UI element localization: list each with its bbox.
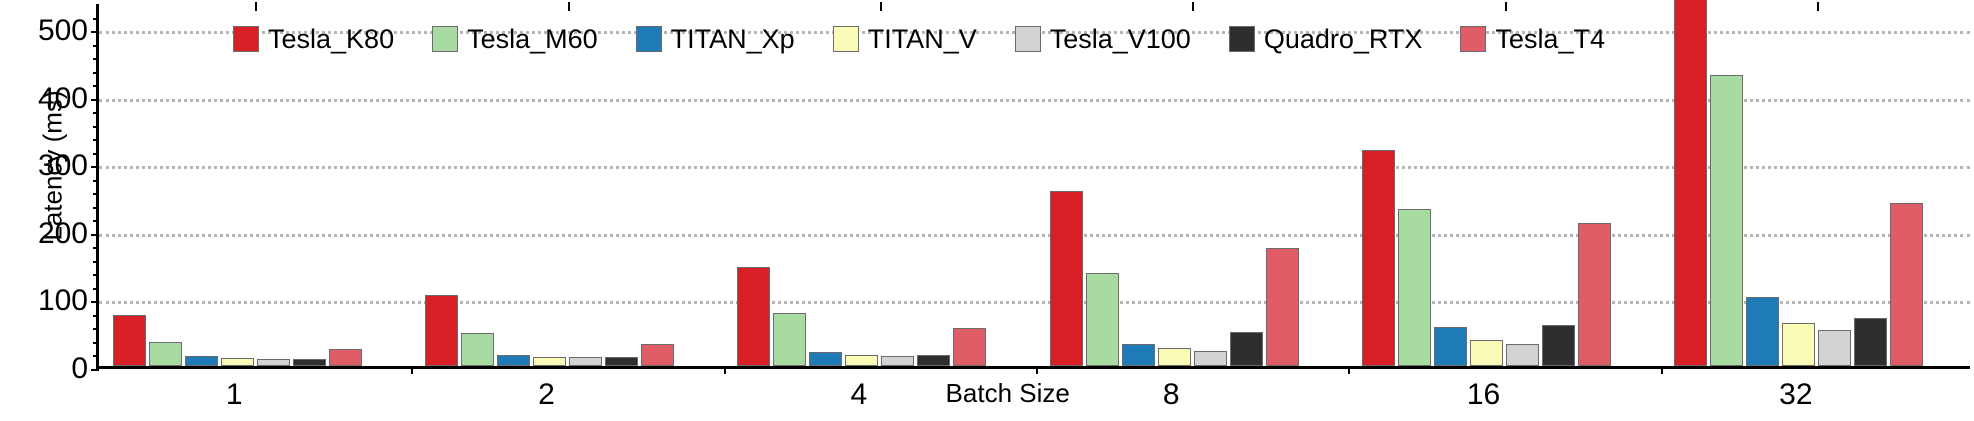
bar[interactable] (149, 342, 182, 366)
x-tick-label: 32 (1779, 378, 1812, 412)
legend-swatch-icon (1015, 26, 1041, 52)
bar[interactable] (329, 349, 362, 366)
chart-root: Latency (ms) 0100200300400500 Tesla_K80T… (0, 0, 1974, 421)
bar[interactable] (1506, 344, 1539, 366)
bar[interactable] (1086, 273, 1119, 366)
bar[interactable] (1158, 348, 1191, 366)
legend-label: Tesla_V100 (1050, 24, 1191, 55)
bar[interactable] (1230, 332, 1263, 366)
bar[interactable] (809, 352, 842, 366)
bar[interactable] (113, 315, 146, 366)
legend-swatch-icon (233, 26, 259, 52)
bar[interactable] (1362, 150, 1395, 366)
legend-item[interactable]: TITAN_V (833, 24, 977, 55)
legend-label: Tesla_M60 (467, 24, 598, 55)
bar[interactable] (641, 344, 674, 366)
x-tick-mark (724, 366, 726, 374)
y-axis-tick-labels: 0100200300400500 (14, 0, 88, 421)
x-tick-mark (1661, 366, 1663, 374)
bar-group (1050, 4, 1299, 366)
y-tick-mark (91, 301, 99, 303)
x-tick-label: 8 (1163, 378, 1180, 412)
bar-group (737, 4, 986, 366)
bar[interactable] (185, 356, 218, 366)
bar[interactable] (569, 357, 602, 366)
bar-group (425, 4, 674, 366)
bar[interactable] (1266, 248, 1299, 366)
x-tick-label: 1 (226, 378, 243, 412)
legend-item[interactable]: Tesla_M60 (432, 24, 598, 55)
bar[interactable] (1578, 223, 1611, 366)
legend-label: TITAN_Xp (671, 24, 795, 55)
bar[interactable] (1194, 351, 1227, 366)
legend-item[interactable]: Tesla_V100 (1015, 24, 1191, 55)
x-tick-mark (411, 366, 413, 374)
legend-swatch-icon (1460, 26, 1486, 52)
y-tick-label: 0 (24, 354, 88, 384)
y-tick-mark (91, 99, 99, 101)
bar[interactable] (1746, 297, 1779, 366)
bar[interactable] (917, 355, 950, 366)
y-tick-label: 100 (24, 286, 88, 316)
legend-item[interactable]: Tesla_K80 (233, 24, 394, 55)
bar[interactable] (1782, 323, 1815, 366)
bar[interactable] (1398, 209, 1431, 366)
legend-label: Tesla_K80 (268, 24, 394, 55)
plot-area: Tesla_K80Tesla_M60TITAN_XpTITAN_VTesla_V… (96, 4, 1970, 369)
y-tick-label: 400 (24, 84, 88, 114)
bar[interactable] (1890, 203, 1923, 366)
bar[interactable] (497, 355, 530, 366)
legend-swatch-icon (432, 26, 458, 52)
bar[interactable] (1122, 344, 1155, 366)
y-tick-mark (91, 369, 99, 371)
y-tick-label: 500 (24, 16, 88, 46)
bar-group (1674, 4, 1923, 366)
bar[interactable] (533, 357, 566, 366)
legend-item[interactable]: Tesla_T4 (1460, 24, 1605, 55)
bar-series-container (99, 4, 1970, 366)
bar[interactable] (1470, 340, 1503, 366)
bar[interactable] (461, 333, 494, 366)
bar[interactable] (845, 355, 878, 366)
y-tick-label: 300 (24, 151, 88, 181)
bar[interactable] (881, 356, 914, 366)
bar[interactable] (953, 328, 986, 366)
bar[interactable] (1818, 330, 1851, 367)
x-tick-label: 2 (538, 378, 555, 412)
bar[interactable] (1854, 318, 1887, 366)
legend: Tesla_K80Tesla_M60TITAN_XpTITAN_VTesla_V… (233, 22, 1643, 56)
bar[interactable] (1050, 191, 1083, 366)
x-tick-label: 16 (1467, 378, 1500, 412)
bar[interactable] (773, 313, 806, 366)
y-tick-mark (91, 234, 99, 236)
y-tick-label: 200 (24, 219, 88, 249)
x-tick-mark (1036, 366, 1038, 374)
bar[interactable] (257, 359, 290, 366)
bar[interactable] (1710, 75, 1743, 366)
legend-swatch-icon (833, 26, 859, 52)
bar[interactable] (1434, 327, 1467, 366)
bar[interactable] (737, 267, 770, 366)
bar[interactable] (293, 359, 326, 366)
y-tick-mark (91, 31, 99, 33)
legend-item[interactable]: Quadro_RTX (1229, 24, 1423, 55)
legend-label: Tesla_T4 (1495, 24, 1605, 55)
bar-group (113, 4, 362, 366)
bar[interactable] (221, 358, 254, 366)
bar[interactable] (1674, 0, 1707, 366)
bar[interactable] (425, 295, 458, 366)
x-tick-label: 4 (850, 378, 867, 412)
legend-label: TITAN_V (868, 24, 977, 55)
x-tick-mark (1348, 366, 1350, 374)
bar[interactable] (605, 357, 638, 366)
legend-swatch-icon (636, 26, 662, 52)
y-tick-mark (91, 166, 99, 168)
legend-item[interactable]: TITAN_Xp (636, 24, 795, 55)
bar-group (1362, 4, 1611, 366)
bar[interactable] (1542, 325, 1575, 366)
legend-swatch-icon (1229, 26, 1255, 52)
x-axis-title: Batch Size (946, 378, 1070, 409)
legend-label: Quadro_RTX (1264, 24, 1423, 55)
